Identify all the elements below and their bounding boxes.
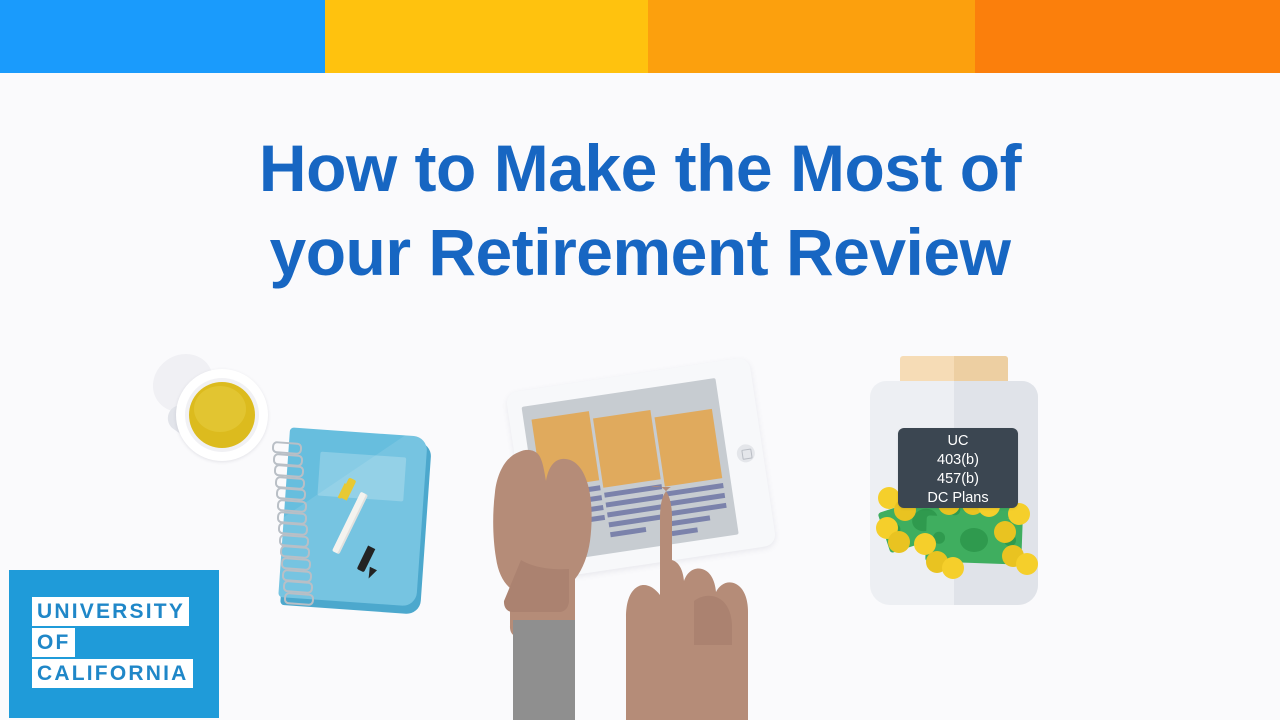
coin <box>994 521 1016 543</box>
right-hand <box>626 486 748 720</box>
money-jar-illustration: UC 403(b) 457(b) DC Plans <box>866 356 1044 608</box>
jar-label-line-3: 457(b) <box>898 470 1018 489</box>
coin <box>888 531 910 553</box>
jar-label: UC 403(b) 457(b) DC Plans <box>898 428 1018 508</box>
uc-logo-line-university: UNIVERSITY <box>32 597 189 626</box>
jar-label-line-1: UC <box>898 432 1018 451</box>
coin <box>942 557 964 579</box>
jar-body: UC 403(b) 457(b) DC Plans <box>870 381 1038 605</box>
jar-label-line-4: DC Plans <box>898 489 1018 508</box>
jar-label-line-2: 403(b) <box>898 451 1018 470</box>
jar-lid-shadow <box>954 356 1008 382</box>
bill-portrait-oval <box>960 528 989 553</box>
uc-logo-line-california: CALIFORNIA <box>32 659 193 688</box>
coin <box>1016 553 1038 575</box>
uc-logo: UNIVERSITY OF CALIFORNIA <box>9 570 219 718</box>
slide-canvas: How to Make the Most of your Retirement … <box>0 0 1280 720</box>
left-sleeve <box>513 620 575 720</box>
uc-logo-line-of: OF <box>32 628 75 657</box>
